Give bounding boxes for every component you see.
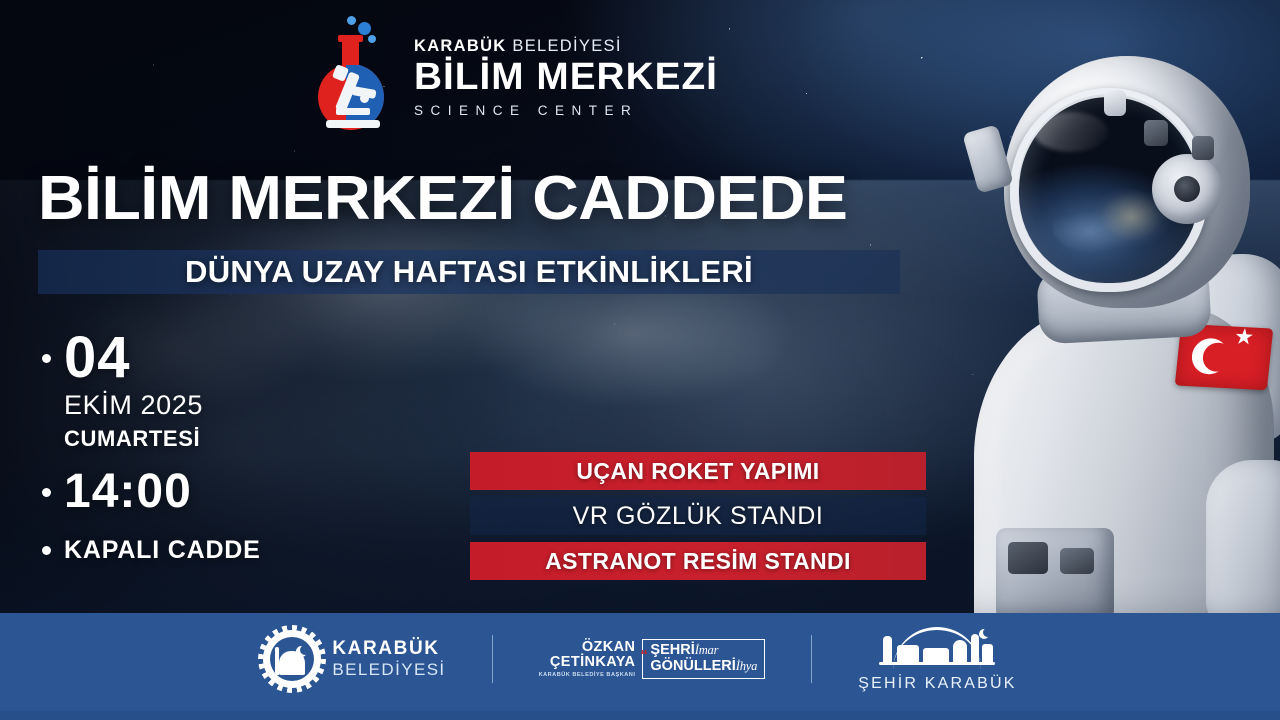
footer-karabuk: KARABÜK: [332, 639, 445, 660]
event-details: 04 EKİM 2025 CUMARTESİ 14:00 KAPALI CADD…: [38, 330, 348, 563]
bullet-icon: [42, 488, 51, 497]
astronaut-chest-module: [996, 528, 1114, 620]
spacer: [470, 490, 926, 497]
event-day: 04: [64, 330, 348, 385]
helmet-clip: [962, 124, 1014, 194]
divider: [811, 635, 812, 683]
crescent-shape: [1190, 337, 1230, 375]
skyline-building: [953, 640, 967, 662]
activity-item: UÇAN ROKET YAPIMI: [470, 452, 926, 490]
event-weekday: CUMARTESİ: [64, 425, 348, 453]
science-center-logo: KARABÜK BELEDİYESİ BİLİM MERKEZİ SCIENCE…: [312, 14, 672, 136]
mayor-role: KARABÜK BELEDİYE BAŞKANI: [539, 672, 636, 678]
microscope-stage: [336, 108, 370, 115]
science-center-wordmark: KARABÜK BELEDİYESİ BİLİM MERKEZİ SCIENCE…: [414, 32, 712, 119]
footer-belediyesi: BELEDİYESİ: [332, 660, 445, 679]
logo-belediyesi: BELEDİYESİ: [512, 37, 621, 55]
skyline-building: [971, 634, 979, 662]
logo-karabuk: KARABÜK: [414, 37, 507, 55]
event-date-row: 04 EKİM 2025 CUMARTESİ: [38, 330, 348, 452]
mayor-last-name: ÇETİNKAYA: [539, 655, 636, 670]
slogan-sehri: ŞEHRİ: [650, 642, 694, 658]
karabuk-municipality-logo: KARABÜK BELEDİYESİ: [263, 630, 445, 688]
bubble-icon: [358, 22, 371, 35]
sehir-karabuk-logo: ŞEHİR KARABÜK: [858, 625, 1016, 693]
visor-glint: [1034, 112, 1108, 152]
crescent-icon: [296, 646, 307, 657]
karabuk-wordmark: KARABÜK BELEDİYESİ: [332, 639, 445, 679]
mayor-first-name: ÖZKAN: [539, 640, 636, 655]
mayor-name-block: ÖZKAN ÇETİNKAYA KARABÜK BELEDİYE BAŞKANI: [539, 640, 641, 679]
flask-microscope-icon: [312, 16, 398, 134]
slogan-ihya: İhya: [736, 659, 757, 673]
footer-bar: KARABÜK BELEDİYESİ ÖZKAN ÇETİNKAYA KARAB…: [0, 613, 1280, 720]
bubble-icon: [368, 35, 376, 43]
activity-list: UÇAN ROKET YAPIMI VR GÖZLÜK STANDI ASTRA…: [470, 452, 926, 580]
poster-subtitle: DÜNYA UZAY HAFTASI ETKİNLİKLERİ: [38, 254, 900, 290]
bubble-icon: [347, 16, 356, 25]
bullet-icon: [42, 546, 51, 555]
gear-mosque-icon: [263, 630, 321, 688]
logo-line-bilim-merkezi: BİLİM MERKEZİ: [414, 58, 718, 96]
activity-item: ASTRANOT RESİM STANDI: [470, 542, 926, 580]
skyline-ground: [879, 662, 995, 665]
mayor-logo: ÖZKAN ÇETİNKAYA KARABÜK BELEDİYE BAŞKANI…: [539, 639, 766, 679]
logo-line-science-center: SCIENCE CENTER: [414, 103, 712, 118]
subtitle-bar: DÜNYA UZAY HAFTASI ETKİNLİKLERİ: [38, 250, 900, 294]
helmet-side-module: [1152, 154, 1222, 224]
skyline-building: [923, 648, 949, 662]
event-time-row: 14:00: [38, 468, 348, 516]
event-place: KAPALI CADDE: [64, 538, 348, 563]
slogan-box: “ ŞEHRİİmar GÖNÜLLERİİhya: [642, 639, 765, 679]
slogan-line-2: GÖNÜLLERİİhya: [650, 659, 757, 674]
event-month-year: EKİM 2025: [64, 389, 348, 423]
helmet-knob: [1192, 136, 1214, 160]
poster-title: BİLİM MERKEZİ CADDEDE: [38, 168, 847, 230]
skyline-building: [883, 636, 892, 662]
microscope-knob: [360, 94, 369, 103]
helmet-knob: [1144, 120, 1168, 146]
spacer: [470, 535, 926, 542]
skyline-building: [982, 644, 993, 662]
bullet-icon: [42, 354, 51, 363]
sehir-karabuk-label: ŞEHİR KARABÜK: [858, 675, 1016, 693]
event-place-row: KAPALI CADDE: [38, 538, 348, 563]
helmet-clip: [1104, 90, 1126, 116]
slogan-gonulleri: GÖNÜLLERİ: [650, 658, 735, 674]
astronaut-image: [956, 8, 1280, 624]
divider: [492, 635, 493, 683]
event-time: 14:00: [64, 468, 348, 516]
skyline-building: [897, 645, 919, 662]
crescent-icon: [979, 629, 989, 639]
slogan-imar: İmar: [695, 643, 719, 657]
event-poster: KARABÜK BELEDİYESİ BİLİM MERKEZİ SCIENCE…: [0, 0, 1280, 720]
microscope-base: [326, 120, 380, 128]
logo-line-municipality: KARABÜK BELEDİYESİ: [414, 38, 712, 55]
city-skyline-icon: [871, 625, 1003, 671]
astronaut-arm: [1206, 460, 1280, 628]
slogan-line-1: ŞEHRİİmar: [650, 643, 757, 658]
activity-item: VR GÖZLÜK STANDI: [470, 497, 926, 535]
quote-mark-icon: “: [640, 648, 648, 663]
